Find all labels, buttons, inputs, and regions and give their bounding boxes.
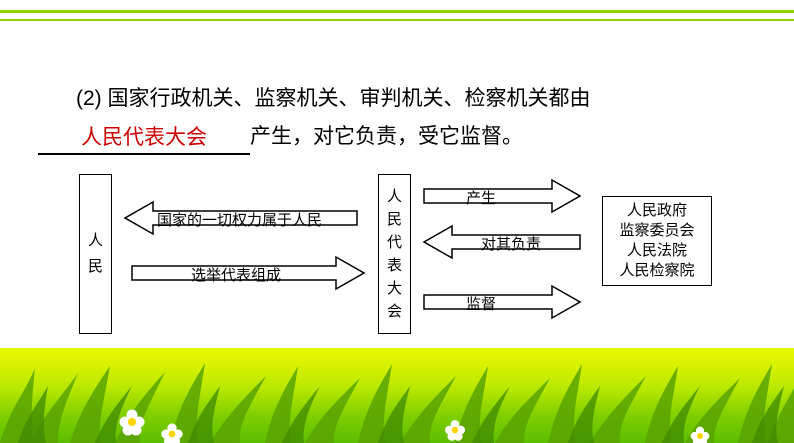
- grass-footer: [0, 348, 794, 443]
- box-people: 人 民: [79, 174, 112, 334]
- grass-silhouette: [0, 348, 794, 443]
- organ-peoples-procuratorate: 人民检察院: [619, 261, 694, 281]
- blank-answer: 人民代表大会: [38, 121, 250, 155]
- box-npc-char-3: 代: [387, 231, 402, 254]
- arrow-label-all-power: 国家的一切权力属于人民: [157, 209, 322, 230]
- organ-government: 人民政府: [627, 201, 687, 221]
- box-npc-char-1: 人: [387, 185, 402, 208]
- question-line-2: 人民代表大会产生，对它负责，受它监督。: [38, 120, 523, 154]
- question-line-1: (2) 国家行政机关、监察机关、审判机关、检察机关都由: [76, 82, 591, 112]
- top-rule-primary: [0, 10, 794, 13]
- box-npc-char-4: 表: [387, 254, 402, 277]
- arrow-label-supervise: 监督: [466, 293, 496, 314]
- organ-supervisory-commission: 监察委员会: [619, 221, 694, 241]
- box-state-organs: 人民政府 监察委员会 人民法院 人民检察院: [602, 196, 712, 286]
- question-text-after-blank: 产生，对它负责，受它监督。: [250, 125, 523, 148]
- box-npc-char-6: 会: [387, 300, 402, 323]
- top-rule-secondary: [0, 19, 794, 21]
- arrow-label-elect: 选举代表组成: [191, 264, 281, 285]
- box-npc-char-5: 大: [387, 277, 402, 300]
- organ-peoples-court: 人民法院: [627, 241, 687, 261]
- arrow-label-responsible: 对其负责: [481, 233, 541, 254]
- box-people-char-2: 民: [88, 254, 103, 280]
- box-national-peoples-congress: 人 民 代 表 大 会: [378, 174, 411, 334]
- question-text-before-blank: 国家行政机关、监察机关、审判机关、检察机关都由: [108, 87, 591, 110]
- box-people-char-1: 人: [88, 228, 103, 254]
- question-number: (2): [76, 87, 102, 110]
- box-npc-char-2: 民: [387, 208, 402, 231]
- arrow-label-produce: 产生: [466, 187, 496, 208]
- relationship-diagram: 人 民 人 民 代 表 大 会 人民政府 监察委员会 人民法院 人民检察院 国家…: [0, 160, 794, 345]
